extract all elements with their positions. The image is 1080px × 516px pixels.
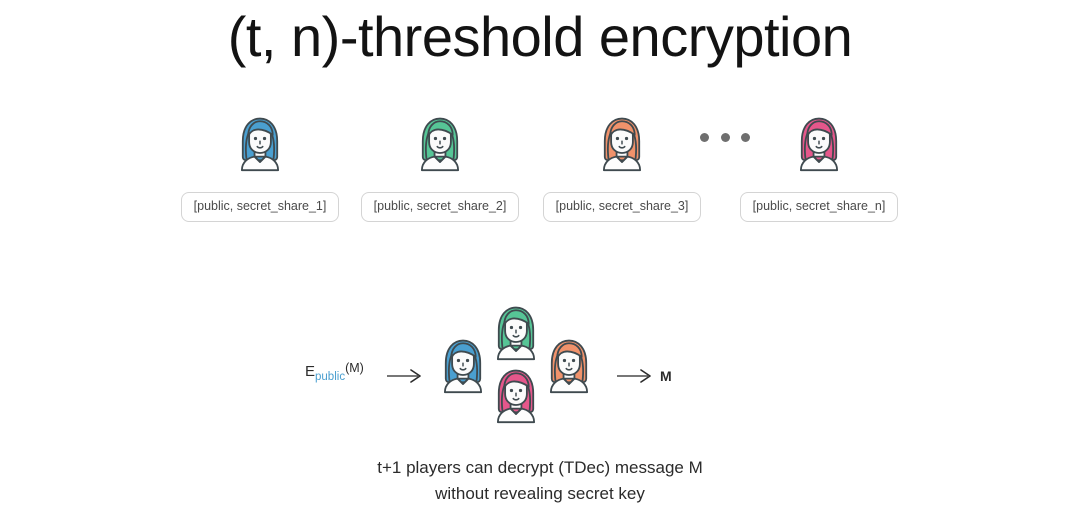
ciphertext-base: E — [305, 363, 315, 380]
share-label-2: [public, secret_share_2] — [361, 192, 520, 222]
share-label-4: [public, secret_share_n] — [740, 192, 899, 222]
avatar-cluster-bottom — [487, 366, 545, 429]
avatar-cluster-top — [487, 303, 545, 366]
avatar-share-holder-3 — [593, 114, 651, 172]
avatar-cluster-right — [540, 336, 598, 399]
share-holder-4: [public, secret_share_n] — [734, 110, 904, 222]
ciphertext-superscript: (M) — [345, 361, 364, 375]
avatar-slot — [790, 110, 848, 172]
avatar-cluster-top-graphic — [487, 303, 545, 361]
avatar-slot — [231, 110, 289, 172]
avatar-cluster-right-graphic — [540, 336, 598, 394]
caption: t+1 players can decrypt (TDec) message M… — [0, 455, 1080, 507]
avatar-cluster-bottom-graphic — [487, 366, 545, 424]
plaintext-term: M — [660, 369, 672, 383]
decryption-equation-row: Epublic(M) — [0, 300, 1080, 430]
avatar-share-holder-2 — [411, 114, 469, 172]
caption-line-1: t+1 players can decrypt (TDec) message M — [0, 455, 1080, 481]
avatar-share-holder-n — [790, 114, 848, 172]
arrow-right-icon — [616, 367, 654, 385]
ellipsis-dot — [721, 133, 730, 142]
share-label-3: [public, secret_share_3] — [543, 192, 702, 222]
share-holder-1: [public, secret_share_1] — [175, 110, 345, 222]
ellipsis-dot — [741, 133, 750, 142]
ciphertext-subscript: public — [315, 371, 345, 383]
share-holder-2: [public, secret_share_2] — [355, 110, 525, 222]
ellipsis-dot — [700, 133, 709, 142]
avatar-share-holder-1 — [231, 114, 289, 172]
avatar-slot — [593, 110, 651, 172]
arrow-right-icon — [386, 367, 424, 385]
avatar-slot — [411, 110, 469, 172]
avatar-cluster-left — [434, 336, 492, 399]
page-title: (t, n)-threshold encryption — [0, 4, 1080, 69]
share-holder-3: [public, secret_share_3] — [537, 110, 707, 222]
ellipsis-icon — [700, 133, 750, 142]
share-holder-row: [public, secret_share_1] [public, secret… — [0, 110, 1080, 210]
caption-line-2: without revealing secret key — [0, 481, 1080, 507]
avatar-cluster-left-graphic — [434, 336, 492, 394]
share-label-1: [public, secret_share_1] — [181, 192, 340, 222]
decrypting-player-cluster — [428, 300, 610, 420]
ciphertext-term: Epublic(M) — [305, 362, 364, 384]
